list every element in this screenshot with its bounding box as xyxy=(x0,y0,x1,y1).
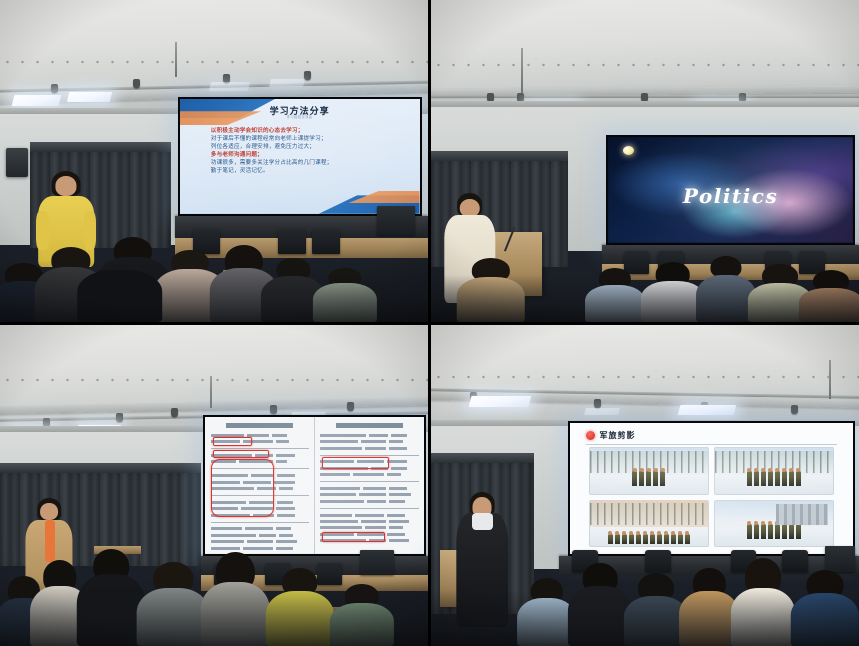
document-row xyxy=(320,460,418,464)
ceiling-hanger-rod xyxy=(521,48,523,93)
audience-area xyxy=(0,193,428,322)
document-row xyxy=(320,487,418,491)
audience-shadow xyxy=(431,590,859,646)
slide-bullet-list: 以积极主动学会知识的心态去学习； 对于课后不懂的课程经常向老师上课提学习； 列位… xyxy=(211,126,401,174)
track-spotlight-icon xyxy=(270,405,277,414)
curtain-rail xyxy=(431,151,568,161)
ceiling-light xyxy=(584,408,620,415)
curtain-rail xyxy=(30,142,171,152)
photo-collage-grid: 学习方法分享 学习经验交流会 以积极主动学会知识的心态去学习； 对于课后不懂的课… xyxy=(0,0,859,646)
slide-photo xyxy=(590,448,708,494)
audience-shadow xyxy=(431,275,859,322)
document-header-bar xyxy=(226,423,293,428)
lecture-hall-room: 学习方法分享 学习经验交流会 以积极主动学会知识的心态去学习； 对于课后不懂的课… xyxy=(0,0,428,322)
document-row xyxy=(320,446,418,450)
track-spotlight-icon xyxy=(791,405,798,414)
lecture-hall-room xyxy=(0,325,428,646)
slide-bullet-item: 列位各适应，合理安排，避免压力过大； xyxy=(211,142,401,150)
lecture-hall-room: Politics xyxy=(431,0,859,322)
document-row xyxy=(211,474,309,478)
document-row xyxy=(211,460,309,464)
slide-bullet-item: 以积极主动学会知识的心态去学习； xyxy=(211,126,401,134)
track-spotlight-icon xyxy=(171,408,178,417)
slide-header: 军旅剪影 xyxy=(586,430,636,441)
ceiling-hanger-rod xyxy=(210,376,212,408)
slide-title: Politics xyxy=(608,184,852,208)
document-row xyxy=(211,433,309,437)
audience-area xyxy=(431,524,859,646)
ceiling-light xyxy=(269,79,305,87)
photo-soldiers xyxy=(599,471,698,486)
slide-subtitle: 学习经验交流会 xyxy=(180,114,420,119)
slide-bullet-item: 对于课后不懂的课程经常向老师上课提学习； xyxy=(211,134,401,142)
document-row xyxy=(320,433,418,437)
document-row xyxy=(211,500,309,504)
wall-trim xyxy=(431,101,859,107)
track-spotlight-icon xyxy=(133,79,140,88)
ceiling-dot-row xyxy=(0,55,428,69)
slide-bullet-item: 功课很多，需要多关注学分占比高的几门课程； xyxy=(211,158,401,166)
slide-photo xyxy=(715,448,833,494)
track-spotlight-icon xyxy=(347,402,354,411)
audience-shadow xyxy=(0,579,428,646)
photo-panel-top-right: Politics xyxy=(428,0,859,322)
document-row xyxy=(211,487,309,491)
slide-bullet-item: 多与老师沟通问题； xyxy=(211,150,401,158)
photo-panel-top-left: 学习方法分享 学习经验交流会 以积极主动学会知识的心态去学习； 对于课后不懂的课… xyxy=(0,0,428,322)
document-row xyxy=(320,499,418,503)
document-row xyxy=(320,466,418,470)
lecture-hall-room: 军旅剪影 xyxy=(431,325,859,646)
slide-decor-orb-icon xyxy=(623,146,634,155)
track-spotlight-icon xyxy=(116,413,123,422)
ceiling-hanger-rod xyxy=(829,360,831,399)
audience-area xyxy=(431,219,859,322)
ceiling-light xyxy=(67,92,112,102)
ceiling-light xyxy=(209,82,250,91)
audience-area xyxy=(0,511,428,646)
document-row xyxy=(320,440,418,444)
curtain-rail xyxy=(0,463,201,473)
ceiling-dot-row xyxy=(431,370,859,384)
slide-bullet-item: 勤于笔记，灵活记忆。 xyxy=(211,166,401,174)
photo-treeline xyxy=(590,503,708,525)
ceiling-dot-row xyxy=(431,58,859,72)
photo-treeline xyxy=(715,451,833,473)
photo-panel-bottom-right: 军旅剪影 xyxy=(428,322,859,646)
document-row xyxy=(211,507,309,511)
document-row xyxy=(320,493,418,497)
ceiling-light xyxy=(11,95,61,106)
document-row xyxy=(320,473,418,477)
ceiling-light xyxy=(678,405,736,415)
track-spotlight-icon xyxy=(594,399,601,408)
wall-speaker xyxy=(6,148,27,177)
curtain-rail xyxy=(431,453,534,463)
photo-panel-bottom-left xyxy=(0,322,428,646)
document-header-bar xyxy=(336,423,403,428)
document-row xyxy=(211,440,309,444)
red-circle-icon xyxy=(586,431,595,440)
document-row xyxy=(211,480,309,484)
photo-soldiers xyxy=(724,471,823,486)
document-row xyxy=(211,454,309,458)
ceiling-dot-row xyxy=(0,373,428,387)
slide-divider xyxy=(586,444,838,445)
slide-title: 军旅剪影 xyxy=(600,430,636,441)
ceiling-light xyxy=(468,396,531,407)
audience-shadow xyxy=(0,260,428,322)
ceiling-hanger-rod xyxy=(175,42,177,77)
track-spotlight-icon xyxy=(51,84,58,93)
